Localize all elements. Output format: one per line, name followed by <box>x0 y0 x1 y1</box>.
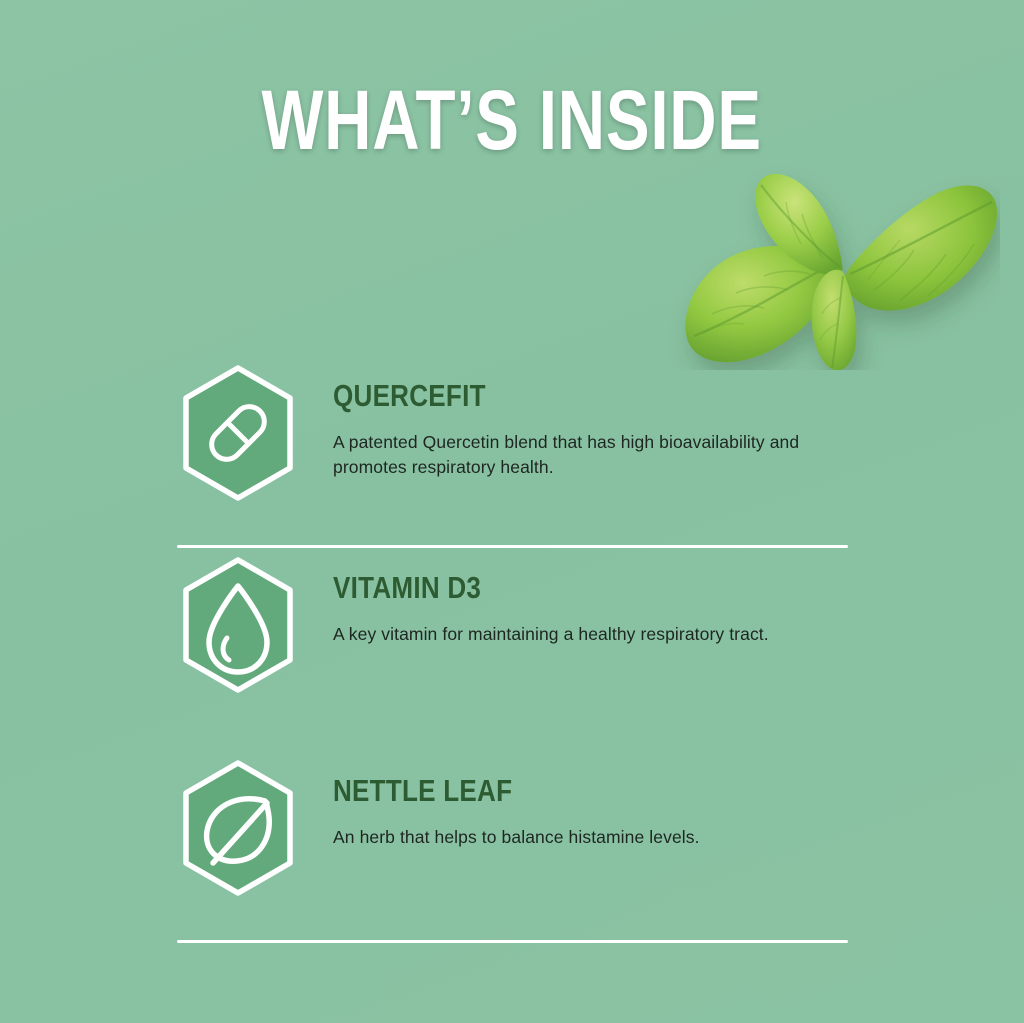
page-title-wrap: WHAT’S INSIDE <box>0 78 1024 162</box>
ingredient-text: VITAMIN D3 A key vitamin for maintaining… <box>303 544 769 647</box>
ingredient-list: QUERCEFIT A patented Quercetin blend tha… <box>0 352 1024 947</box>
ingredient-row: NETTLE LEAF An herb that helps to balanc… <box>0 747 1024 947</box>
ingredient-text: QUERCEFIT A patented Quercetin blend tha… <box>303 352 853 480</box>
droplet-icon <box>177 554 299 696</box>
leaf-icon <box>177 757 299 899</box>
ingredient-name: QUERCEFIT <box>333 380 770 411</box>
ingredient-name: VITAMIN D3 <box>333 572 699 603</box>
ingredient-row: QUERCEFIT A patented Quercetin blend tha… <box>0 352 1024 544</box>
ingredient-description: An herb that helps to balance histamine … <box>333 825 700 850</box>
hex-badge <box>177 544 303 696</box>
ingredient-name: NETTLE LEAF <box>333 775 641 806</box>
hex-badge <box>177 747 303 899</box>
whats-inside-infographic: WHAT’S INSIDE <box>0 0 1024 1023</box>
page-title: WHAT’S INSIDE <box>262 78 762 162</box>
ingredient-text: NETTLE LEAF An herb that helps to balanc… <box>303 747 700 850</box>
capsule-icon <box>177 362 299 504</box>
ingredient-description: A key vitamin for maintaining a healthy … <box>333 622 769 647</box>
ingredient-row: VITAMIN D3 A key vitamin for maintaining… <box>0 544 1024 747</box>
hex-badge <box>177 352 303 504</box>
ingredient-description: A patented Quercetin blend that has high… <box>333 430 853 480</box>
